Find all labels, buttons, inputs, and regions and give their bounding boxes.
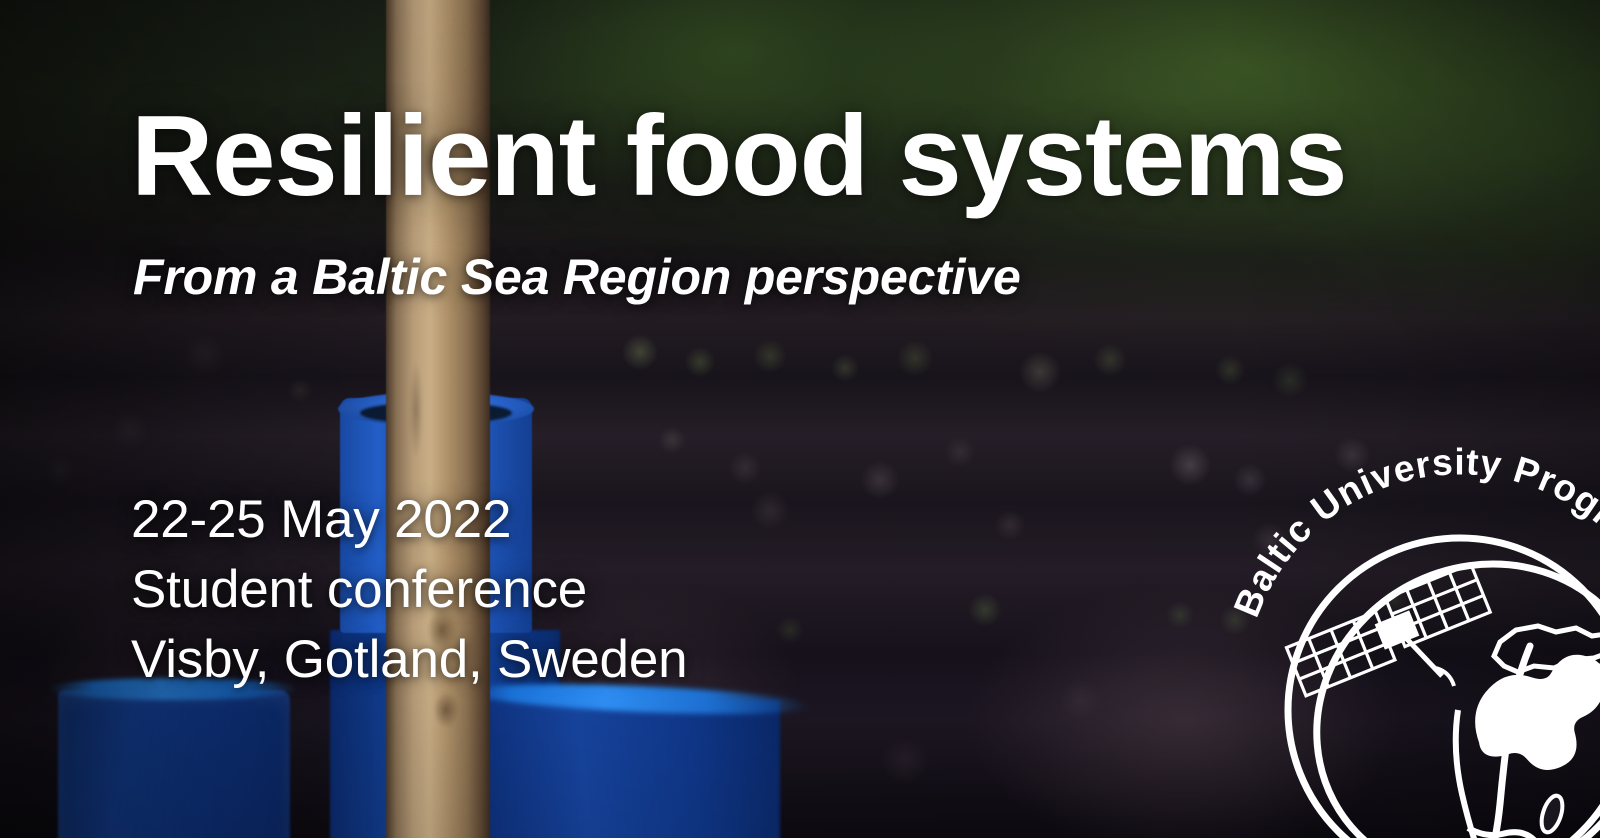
event-details-list: 22-25 May 2022 Student conference Visby,… xyxy=(131,485,687,695)
conference-poster: Resilient food systems From a Baltic Sea… xyxy=(0,0,1600,838)
event-type: Student conference xyxy=(131,555,687,625)
baltic-sea-map-icon xyxy=(1456,626,1600,838)
event-location: Visby, Gotland, Sweden xyxy=(131,625,687,695)
page-subtitle: From a Baltic Sea Region perspective xyxy=(133,252,1021,302)
poster-text-block: Resilient food systems From a Baltic Sea… xyxy=(131,0,1451,838)
event-dates: 22-25 May 2022 xyxy=(131,485,687,555)
page-title: Resilient food systems xyxy=(131,100,1346,214)
